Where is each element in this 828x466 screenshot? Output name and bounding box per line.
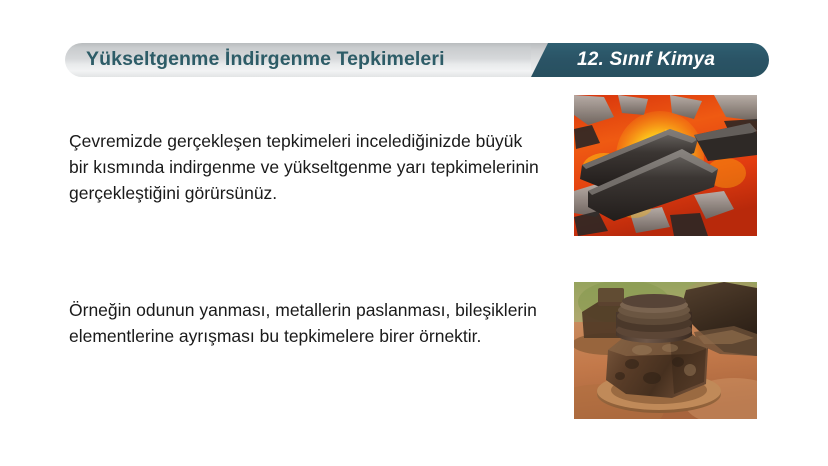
- rusted-bolt-graphic: [574, 282, 757, 419]
- paragraph-two: Örneğin odunun yanması, metallerin pasla…: [69, 297, 539, 349]
- slide-title: Yükseltgenme İndirgenme Tepkimeleri: [86, 43, 445, 77]
- paragraph-one: Çevremizde gerçekleşen tepkimeleri incel…: [69, 128, 539, 206]
- slide-header-banner: Yükseltgenme İndirgenme Tepkimeleri 12. …: [65, 43, 769, 77]
- course-label: 12. Sınıf Kimya: [577, 43, 715, 77]
- fire-photo-graphic: [574, 95, 757, 236]
- burning-wood-fire-photo: [574, 95, 757, 236]
- rusted-bolt-photo: [574, 282, 757, 419]
